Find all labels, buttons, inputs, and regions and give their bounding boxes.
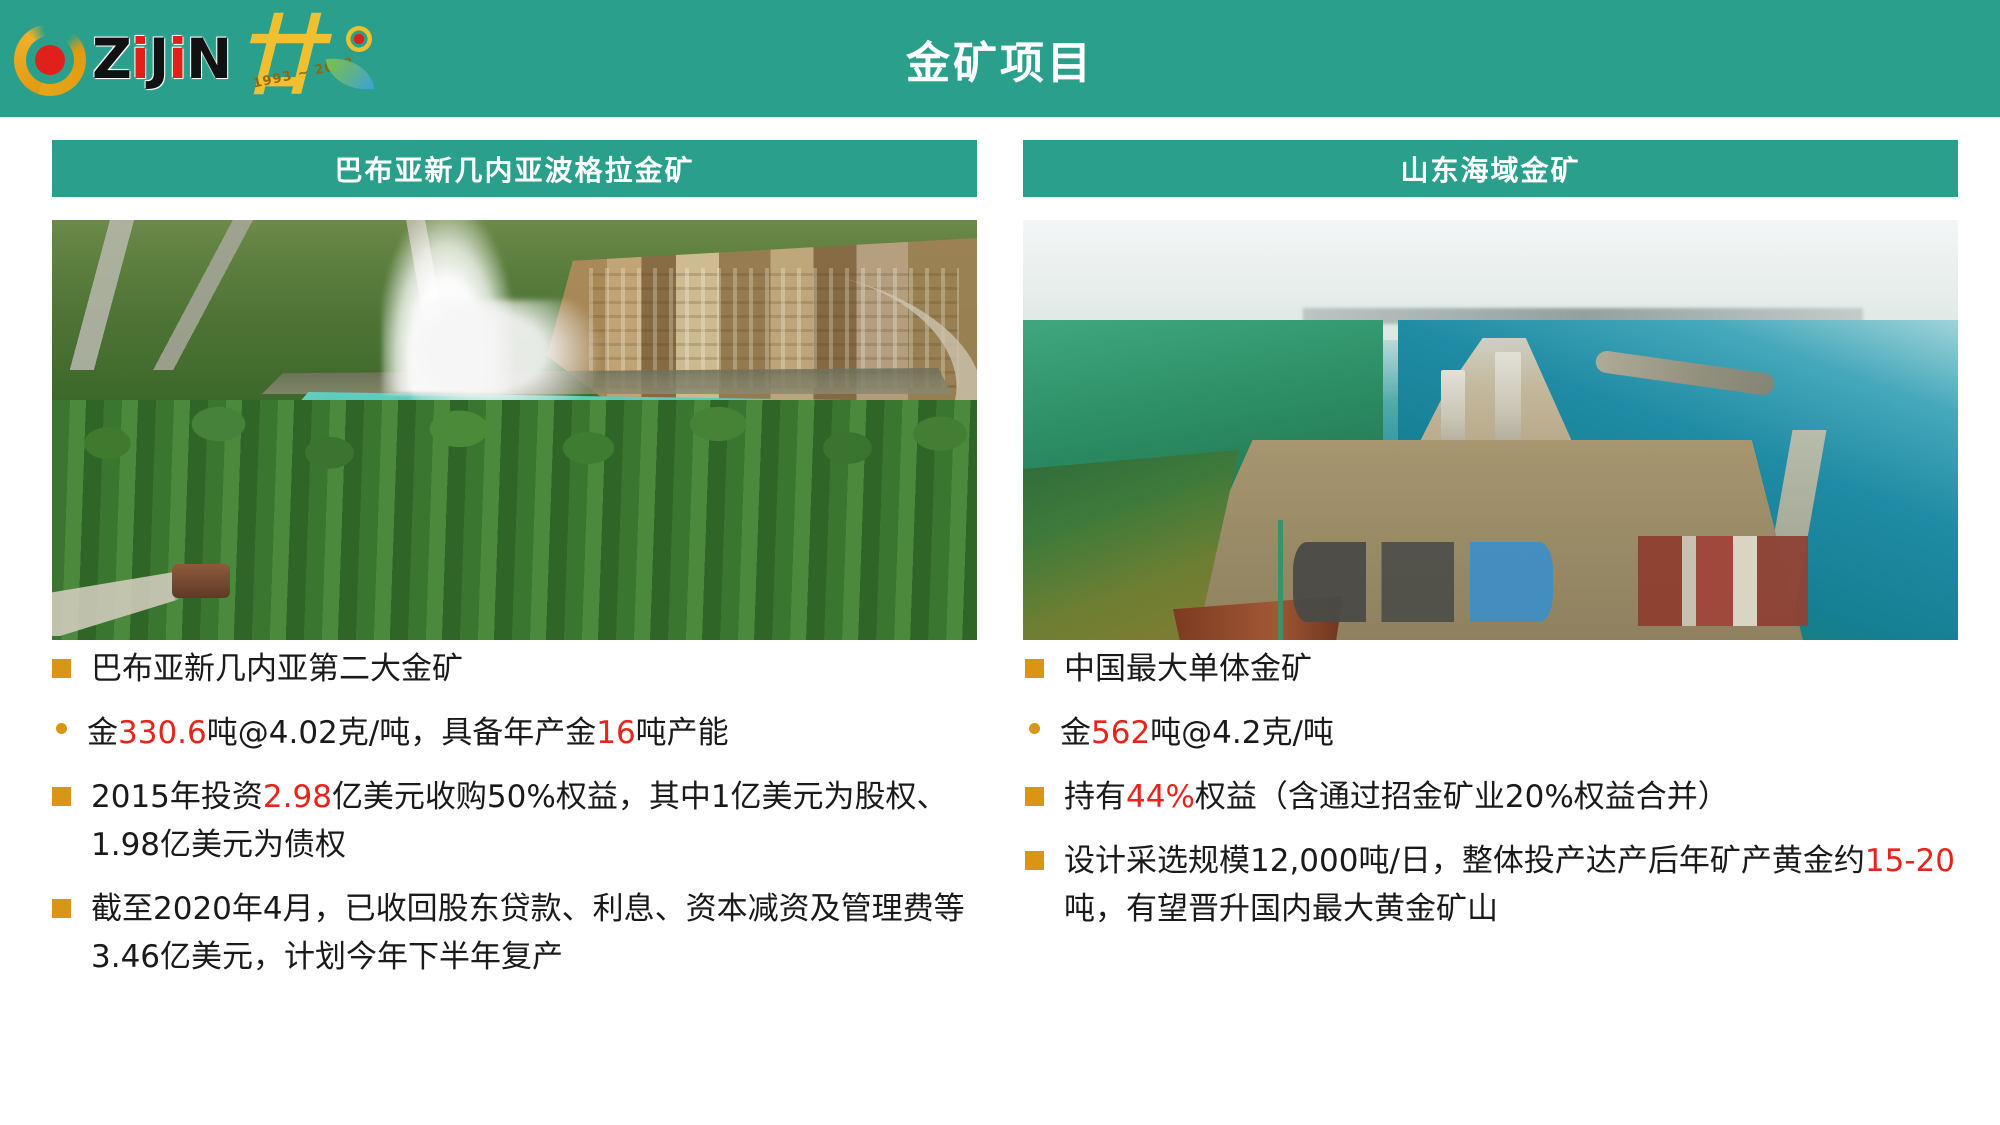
bullet-highlight-value: 562 (1091, 715, 1150, 751)
bullet-plain-text: 吨@4.2克/吨 (1150, 715, 1334, 751)
bullet-plain-text: 2015年投资 (91, 779, 263, 815)
bullet-plain-text: 巴布亚新几内亚第二大金矿 (91, 651, 463, 687)
bullet-text: 中国最大单体金矿 (1064, 645, 1985, 693)
bullet-plain-text: 设计采选规模12,000吨/日，整体投产达产后年矿产黄金约 (1064, 843, 1865, 879)
bullet-highlight-value: 15-20 (1865, 843, 1955, 879)
bullet-dot-icon (1029, 723, 1040, 734)
bullet-plain-text: 持有 (1064, 779, 1126, 815)
bullet-text: 金562吨@4.2克/吨 (1060, 709, 1985, 757)
photo-porgera-gold-mine (52, 220, 977, 640)
bullet-square-icon (1025, 659, 1044, 678)
page-title: 金矿项目 (0, 0, 2000, 117)
project-card-right: 山东海域金矿 (1023, 140, 1958, 640)
photo-red-buildings-layer (1638, 536, 1808, 626)
bullet-text: 巴布亚新几内亚第二大金矿 (91, 645, 997, 693)
bullet-highlight-value: 44% (1126, 779, 1195, 815)
bullet-square-icon (52, 659, 71, 678)
bullet-square-icon (1025, 787, 1044, 806)
photo-forest-layer (52, 400, 977, 640)
bullet-text: 设计采选规模12,000吨/日，整体投产达产后年矿产黄金约15-20吨，有望晋升… (1064, 837, 1985, 933)
top-header-bar: ZiJiN 廿 1993 ~ 2023 金矿项目 (0, 0, 2000, 117)
bullet-plain-text: 金 (1060, 715, 1091, 751)
bullet-highlight-value: 330.6 (118, 715, 207, 751)
photo-tank-layer (172, 564, 230, 598)
bullet-item: 金562吨@4.2克/吨 (1025, 709, 1985, 757)
bullet-list-left: 巴布亚新几内亚第二大金矿金330.6吨@4.02克/吨，具备年产金16吨产能20… (52, 645, 997, 997)
bullet-plain-text: 金 (87, 715, 118, 751)
bullet-highlight-value: 16 (596, 715, 635, 751)
bullet-plain-text: 吨，有望晋升国内最大黄金矿山 (1064, 891, 1498, 927)
bullet-item: 金330.6吨@4.02克/吨，具备年产金16吨产能 (52, 709, 997, 757)
bullet-text: 金330.6吨@4.02克/吨，具备年产金16吨产能 (87, 709, 997, 757)
bullet-highlight-value: 2.98 (263, 779, 332, 815)
card-header-right: 山东海域金矿 (1023, 140, 1958, 197)
bullet-plain-text: 截至2020年4月，已收回股东贷款、利息、资本减资及管理费等3.46亿美元，计划… (91, 891, 965, 975)
bullet-item: 中国最大单体金矿 (1025, 645, 1985, 693)
bullet-list-right: 中国最大单体金矿金562吨@4.2克/吨持有44%权益（含通过招金矿业20%权益… (1025, 645, 1985, 949)
photo-haiyu-gold-mine (1023, 220, 1958, 640)
bullet-square-icon (52, 787, 71, 806)
card-header-left: 巴布亚新几内亚波格拉金矿 (52, 140, 977, 197)
bullet-plain-text: 吨产能 (636, 715, 729, 751)
bullet-dot-icon (56, 723, 67, 734)
logo-red-dot-shape (35, 45, 65, 75)
project-card-left: 巴布亚新几内亚波格拉金矿 (52, 140, 977, 640)
bullet-item: 2015年投资2.98亿美元收购50%权益，其中1亿美元为股权、1.98亿美元为… (52, 773, 997, 869)
bullet-plain-text: 权益（含通过招金矿业20%权益合并） (1195, 779, 1729, 815)
bullet-plain-text: 吨@4.02克/吨，具备年产金 (207, 715, 596, 751)
bullet-item: 巴布亚新几内亚第二大金矿 (52, 645, 997, 693)
bullet-square-icon (52, 899, 71, 918)
bullet-item: 设计采选规模12,000吨/日，整体投产达产后年矿产黄金约15-20吨，有望晋升… (1025, 837, 1985, 933)
bullet-square-icon (1025, 851, 1044, 870)
bullet-text: 持有44%权益（含通过招金矿业20%权益合并） (1064, 773, 1985, 821)
bullet-item: 持有44%权益（含通过招金矿业20%权益合并） (1025, 773, 1985, 821)
bullet-text: 2015年投资2.98亿美元收购50%权益，其中1亿美元为股权、1.98亿美元为… (91, 773, 997, 869)
bullet-text: 截至2020年4月，已收回股东贷款、利息、资本减资及管理费等3.46亿美元，计划… (91, 885, 997, 981)
photo-crane-layer (1278, 520, 1283, 640)
bullet-plain-text: 中国最大单体金矿 (1064, 651, 1312, 687)
photo-industrial-sheds-layer (1293, 542, 1553, 622)
bullet-item: 截至2020年4月，已收回股东贷款、利息、资本减资及管理费等3.46亿美元，计划… (52, 885, 997, 981)
photo-dam-layer (262, 368, 952, 394)
